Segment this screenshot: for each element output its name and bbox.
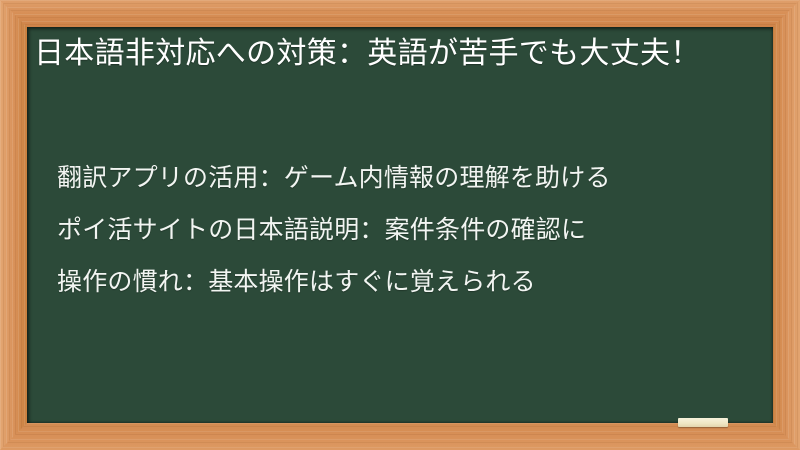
- slide-title-line-2: も大丈夫！: [549, 37, 701, 70]
- bullet-item-1: 翻訳アプリの活用：ゲーム内情報の理解を助ける: [57, 152, 757, 204]
- bullet-item-3: 操作の慣れ：基本操作はすぐに覚えられる: [57, 256, 757, 308]
- board-content: 日本語非対応への対策：英語が苦手で も大丈夫！ 翻訳アプリの活用：ゲーム内情報の…: [27, 27, 773, 423]
- bullet-list: 翻訳アプリの活用：ゲーム内情報の理解を助ける ポイ活サイトの日本語説明：案件条件…: [57, 152, 757, 308]
- frame-plank-top: [0, 0, 800, 27]
- chalkboard-surface: 日本語非対応への対策：英語が苦手で も大丈夫！ 翻訳アプリの活用：ゲーム内情報の…: [27, 27, 773, 423]
- chalkboard-slide: 日本語非対応への対策：英語が苦手で も大丈夫！ 翻訳アプリの活用：ゲーム内情報の…: [0, 0, 800, 450]
- slide-title-line-1: 日本語非対応への対策：英語が苦手で: [34, 37, 549, 70]
- bullet-item-2: ポイ活サイトの日本語説明：案件条件の確認に: [57, 204, 757, 256]
- chalk-stick-icon: [678, 418, 728, 427]
- frame-plank-left: [0, 0, 27, 450]
- slide-title: 日本語非対応への対策：英語が苦手で も大丈夫！: [34, 32, 744, 76]
- frame-plank-right: [773, 0, 800, 450]
- frame-plank-bottom: [0, 423, 800, 450]
